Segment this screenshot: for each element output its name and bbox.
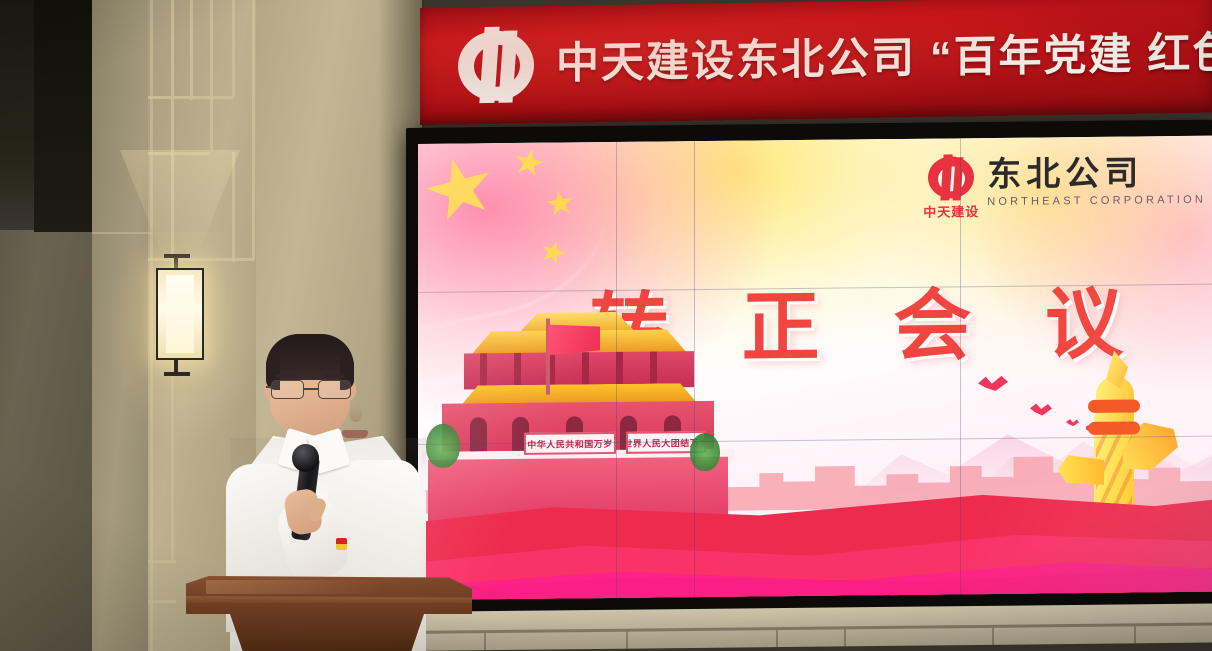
lattice-trim	[232, 0, 235, 96]
zhongtian-mark-icon: 中天建设	[925, 154, 977, 217]
lattice-trim	[148, 258, 254, 261]
wall-dark-corner-2	[34, 0, 96, 232]
sconce-frame	[156, 268, 204, 360]
lattice-trim	[148, 560, 176, 563]
torch-band	[1088, 421, 1140, 435]
sconce-mount-bottom-bar	[164, 372, 190, 376]
wooden-podium	[186, 576, 472, 651]
sconce-shade	[166, 275, 194, 353]
podium-body	[216, 612, 438, 651]
stage-base	[404, 604, 1212, 651]
presenter-mouth	[342, 430, 368, 438]
sconce-mount-top-bar	[164, 254, 190, 258]
lattice-trim	[252, 0, 255, 260]
lattice-trim	[148, 96, 234, 99]
gate-plaque-left: 中华人民共和国万岁	[524, 432, 616, 455]
party-emblem-pin	[336, 538, 347, 550]
led-video-wall: 中天建设 东北公司 NORTHEAST CORPORATION 转 正 会 议	[418, 136, 1212, 600]
zhongtian-logo	[454, 24, 540, 107]
lattice-trim	[148, 600, 176, 603]
torch-band	[1088, 399, 1140, 413]
corp-name-en: NORTHEAST CORPORATION	[987, 194, 1206, 208]
event-banner: 中天建设东北公司 “百年党建 红色记忆” 党日活	[420, 0, 1212, 125]
lattice-trim	[92, 232, 152, 234]
lattice-trim	[190, 0, 193, 100]
eyeglasses-icon	[268, 380, 354, 400]
wall-panel-a	[92, 0, 152, 651]
corp-mark-caption: 中天建设	[923, 201, 979, 221]
presenter-nose	[350, 404, 362, 422]
tiananmen-gate-illustration: 中华人民共和国万岁 世界人民大团结万岁	[428, 341, 728, 534]
tree-decoration	[690, 433, 720, 471]
photo-scene: 中天建设东北公司 “百年党建 红色记忆” 党日活 中天建设 东北公司 NORTH…	[0, 0, 1212, 651]
lattice-trim	[232, 152, 235, 262]
podium-highlight	[206, 580, 386, 594]
slide-corporate-logo: 中天建设 东北公司 NORTHEAST CORPORATION	[925, 152, 1206, 217]
lattice-trim	[148, 152, 210, 155]
corp-name-cn: 东北公司	[987, 156, 1206, 192]
banner-title: 中天建设东北公司 “百年党建 红色记忆” 党日活	[556, 28, 1212, 86]
wall-sconce	[156, 268, 204, 360]
lattice-trim	[210, 0, 213, 150]
